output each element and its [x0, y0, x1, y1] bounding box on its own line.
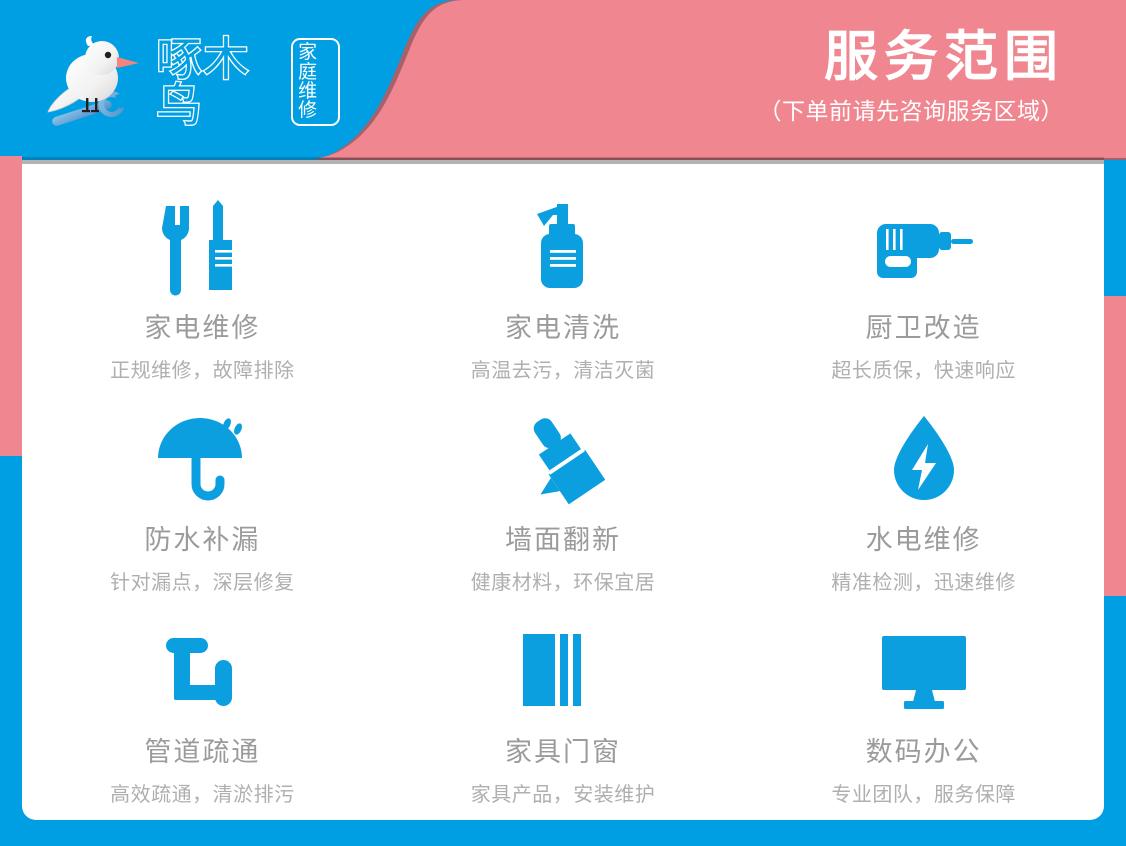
service-desc: 超长质保，快速响应 [831, 354, 1016, 383]
service-item[interactable]: 水电维修 精准检测，迅速维修 [743, 386, 1104, 598]
brand-badge-line1: 家庭 [298, 43, 333, 82]
service-title: 防水补漏 [144, 518, 260, 557]
service-desc: 高温去污，清洁灭菌 [471, 354, 656, 383]
service-item[interactable]: 家电清洗 高温去污，清洁灭菌 [383, 174, 744, 386]
service-item[interactable]: 防水补漏 针对漏点，深层修复 [22, 386, 383, 598]
service-title: 家电清洗 [505, 306, 621, 345]
service-title: 数码办公 [866, 730, 982, 769]
page-subtitle: （下单前请先咨询服务区域） [504, 92, 1064, 126]
service-title: 管道疏通 [144, 730, 260, 769]
monitor-icon [854, 620, 994, 724]
card-top-divider [22, 160, 1104, 164]
service-desc: 针对漏点，深层修复 [110, 566, 295, 595]
service-desc: 健康材料，环保宜居 [471, 566, 656, 595]
water-drop-bolt-icon [854, 408, 994, 512]
spray-bottle-icon [493, 196, 633, 300]
service-item[interactable]: 墙面翻新 健康材料，环保宜居 [383, 386, 744, 598]
page-title: 服务范围 [504, 26, 1064, 88]
service-item[interactable]: 家具门窗 家具产品，安装维护 [383, 598, 744, 810]
service-desc: 家具产品，安装维护 [471, 778, 656, 807]
pipe-icon [132, 620, 272, 724]
brand-name-text: 啄木鸟 [156, 36, 285, 128]
woodpecker-bird-icon [40, 26, 152, 138]
umbrella-icon [132, 408, 272, 512]
brand-badge: 家庭 维修 [291, 38, 340, 126]
service-item[interactable]: 数码办公 专业团队，服务保障 [743, 598, 1104, 810]
power-drill-icon [854, 196, 994, 300]
service-title: 厨卫改造 [866, 306, 982, 345]
paint-brush-icon [493, 408, 633, 512]
service-title: 家电维修 [144, 306, 260, 345]
service-desc: 精准检测，迅速维修 [831, 566, 1016, 595]
service-item[interactable]: 管道疏通 高效疏通，清淤排污 [22, 598, 383, 810]
service-desc: 正规维修，故障排除 [110, 354, 295, 383]
service-desc: 专业团队，服务保障 [831, 778, 1016, 807]
header-title-block: 服务范围 （下单前请先咨询服务区域） [504, 26, 1064, 126]
brand-wordmark: 啄木鸟 家庭 维修 [156, 36, 340, 128]
wrench-screwdriver-icon [132, 196, 272, 300]
service-title: 墙面翻新 [505, 518, 621, 557]
service-item[interactable]: 厨卫改造 超长质保，快速响应 [743, 174, 1104, 386]
service-desc: 高效疏通，清淤排污 [110, 778, 295, 807]
window-blinds-icon [493, 620, 633, 724]
brand-badge-line2: 维修 [298, 82, 333, 121]
left-edge-pink-band [0, 156, 22, 456]
service-title: 家具门窗 [505, 730, 621, 769]
service-item[interactable]: 家电维修 正规维修，故障排除 [22, 174, 383, 386]
services-grid: 家电维修 正规维修，故障排除 家电清洗 高温去污，清洁灭菌 [22, 174, 1104, 810]
service-title: 水电维修 [866, 518, 982, 557]
brand-logo[interactable]: 啄木鸟 家庭 维修 [40, 22, 340, 142]
